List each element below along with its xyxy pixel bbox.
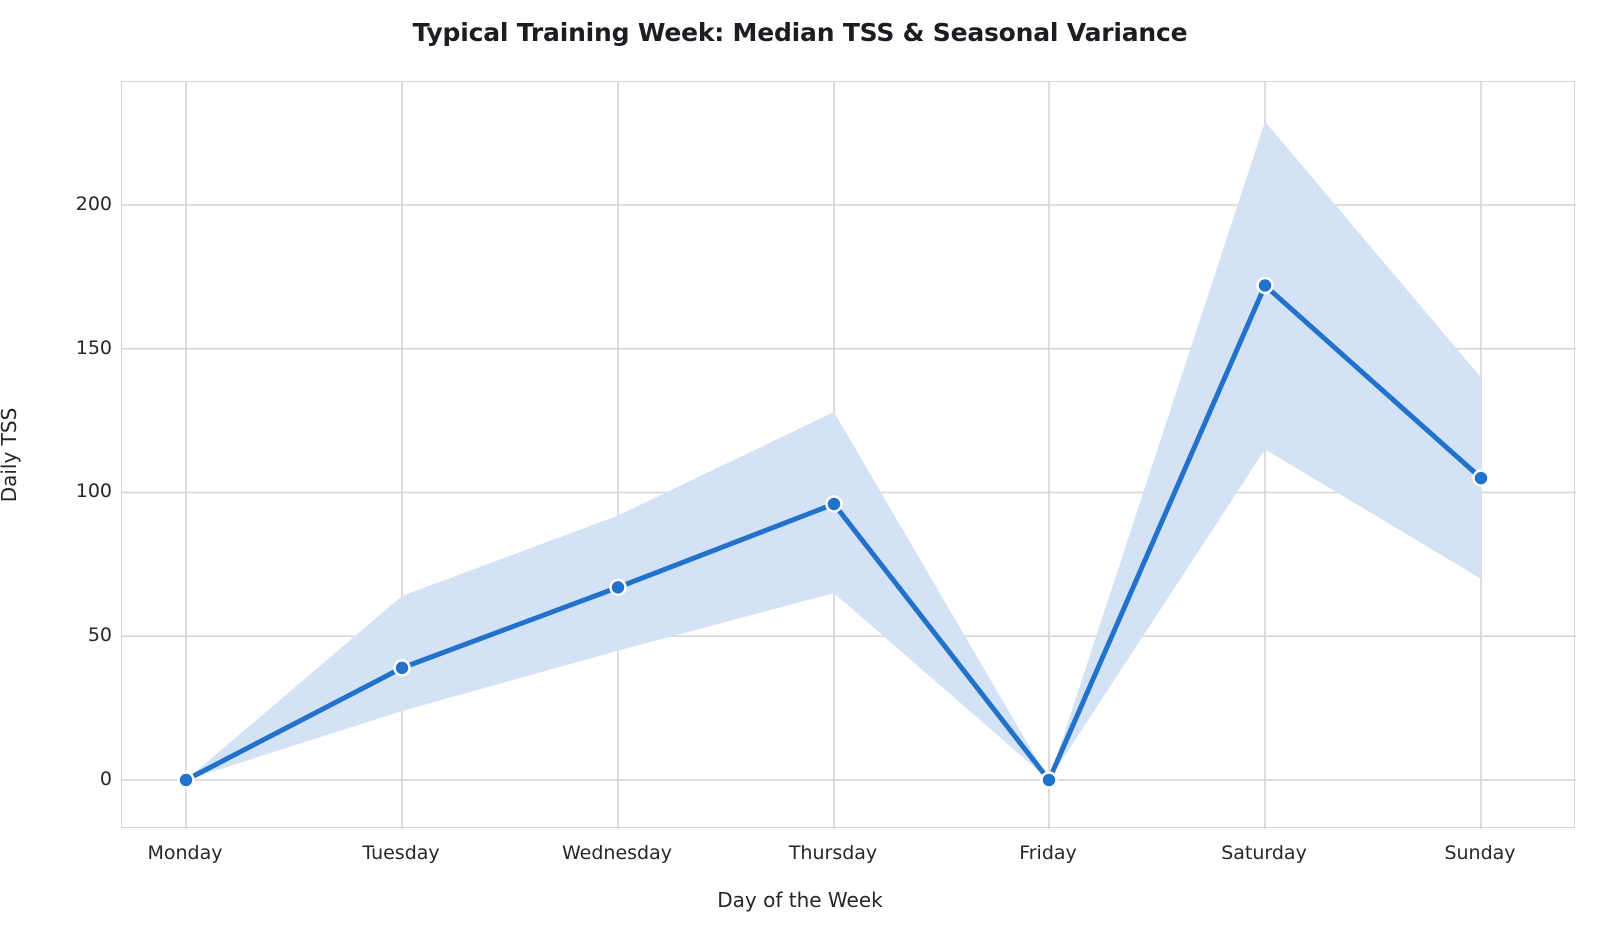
x-axis-label: Day of the Week bbox=[0, 888, 1600, 912]
y-tick-label-0: 0 bbox=[42, 768, 112, 790]
data-point-marker bbox=[395, 660, 410, 675]
x-tick-label-monday: Monday bbox=[147, 842, 222, 864]
plot-area bbox=[121, 81, 1575, 828]
x-tick-label-saturday: Saturday bbox=[1221, 842, 1307, 864]
y-axis-label: Daily TSS bbox=[0, 408, 21, 503]
chart-title: Typical Training Week: Median TSS & Seas… bbox=[0, 18, 1600, 47]
y-tick-label-100: 100 bbox=[42, 480, 112, 502]
x-tick-label-wednesday: Wednesday bbox=[562, 842, 672, 864]
x-tick-label-friday: Friday bbox=[1019, 842, 1077, 864]
chart-figure: Typical Training Week: Median TSS & Seas… bbox=[0, 0, 1600, 933]
data-point-marker bbox=[179, 773, 194, 788]
x-tick-label-sunday: Sunday bbox=[1444, 842, 1515, 864]
y-tick-label-150: 150 bbox=[42, 337, 112, 359]
y-tick-label-50: 50 bbox=[42, 624, 112, 646]
data-point-marker bbox=[1042, 773, 1057, 788]
data-point-marker bbox=[1258, 278, 1273, 293]
chart-plot-svg bbox=[122, 82, 1576, 829]
x-tick-label-thursday: Thursday bbox=[789, 842, 877, 864]
y-tick-label-200: 200 bbox=[42, 193, 112, 215]
x-tick-label-tuesday: Tuesday bbox=[362, 842, 439, 864]
data-point-marker bbox=[611, 580, 626, 595]
data-point-marker bbox=[827, 497, 842, 512]
data-point-marker bbox=[1474, 471, 1489, 486]
